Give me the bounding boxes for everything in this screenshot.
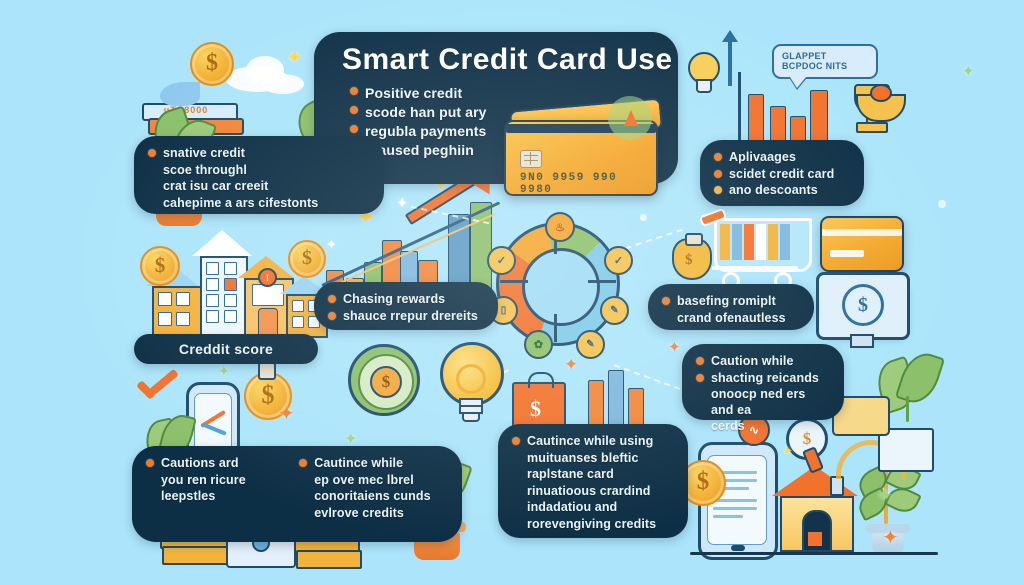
list-item: Caution while [696,354,828,370]
sparkle-icon: ✦ [278,404,295,424]
coin-icon: $ [190,42,234,86]
chart-bar [628,388,644,426]
bowl-icon [856,86,902,120]
panel-basefing-romiplt: basefing romiplt crand ofenautless [648,284,814,330]
speech-bubble-line-2: BCPDOC NITS [782,61,868,71]
list-item: shauce rrepur drereits [328,309,482,325]
list-item: indadatiou and [512,500,672,516]
list-item: ep ove mec lbrel [299,473,446,489]
lightbulb-icon [686,52,718,96]
roof-shape [192,230,252,256]
list-item: Cautince while using [512,434,672,450]
chart-axis [738,72,741,146]
panel-credit-score-through: snative credit scoe throughl crat isu ca… [134,136,384,214]
speech-bubble: GLAPPET BCPDOC NITS [772,44,878,79]
list-item: cahepime a ars cifestonts [148,196,368,212]
sparkle-icon: ✦ [962,64,975,79]
list-item: muituanses bleftic [512,451,672,467]
panel-advantages: Aplivaages scidet credit card ano descoa… [700,140,864,206]
coin-drop-shape [160,82,200,106]
bullet-list: Cautince while using muituanses bleftic … [512,434,672,532]
spending-bar-chart [744,82,836,144]
alert-badge-icon: ! [258,268,277,287]
decorative-dot [938,200,946,208]
card-number: 9N0 9959 990 9980 [520,172,646,196]
target-dollar-icon: $ [348,344,420,416]
list-item: Aplivaages [714,150,848,166]
bullet-list: snative credit scoe throughl crat isu ca… [148,146,368,211]
chart-bar [748,94,764,144]
list-item: snative credit [148,146,368,162]
coin-icon: $ [140,246,180,286]
sparkle-icon: ✦ [218,364,230,378]
sparkle-icon: ✦ [396,196,409,211]
flame-badge-icon: ♨ [545,212,575,242]
door-shape [258,308,278,336]
shopping-cart-icon [700,210,818,286]
list-item: leepstles [146,489,273,505]
list-item: cerds [696,419,828,435]
panel-cautince-while-using: Cautince while using muituanses bleftic … [498,424,688,538]
page-title: Smart Credit Card Use [342,44,662,76]
panel-chasing-rewards: Chasing rewards shauce rrepur drereits [314,282,498,330]
bullet-list: Chasing rewards shauce rrepur drereits [328,292,482,324]
list-item: crand ofenautless [662,311,798,327]
pencil-badge-icon: ✎ [600,296,629,325]
sparkle-icon: ✦ [876,486,893,506]
bullet-list: Cautince while ep ove mec lbrel conorita… [299,456,446,522]
decorative-dot [640,214,647,221]
infographic-canvas: $ uTC8000 [0,0,1024,585]
credit-card-icon [820,216,904,272]
list-item: shacting reicands [696,371,828,387]
leaf-badge-icon: ✿ [524,330,553,359]
bullet-list: Caution while shacting reicands onoocp n… [696,354,828,435]
list-item: evlrove credits [299,506,446,522]
sparkle-icon: ✦ [564,356,578,373]
card-chip-icon [520,150,542,168]
upward-arrow-icon [728,40,732,86]
pen-badge-icon: ✎ [576,330,605,359]
chart-bar [770,106,786,144]
list-item: crat isu car creeit [148,179,368,195]
list-item: rorevengiving credits [512,517,672,533]
chart-bar [608,370,624,426]
check-mark-icon [136,372,180,406]
list-item: Chasing rewards [328,292,482,308]
list-item: ano descoants [714,183,848,199]
coin-icon: $ [288,240,326,278]
chart-bar [810,90,828,144]
list-item: scidet credit card [714,167,848,183]
sparkle-icon: ✦ [326,238,337,251]
check-badge-icon: ✓ [487,246,516,275]
check-badge-icon: ✓ [604,246,633,275]
bullet-list: Aplivaages scidet credit card ano descoa… [714,150,848,199]
list-item: Cautions ard [146,456,273,472]
list-item: raplstane card [512,467,672,483]
list-item: basefing romiplt [662,294,798,310]
panel-caution-shacting: Caution while shacting reicands onoocp n… [682,344,844,420]
lightbulb-icon [440,342,498,424]
mini-bar-chart [586,368,658,426]
list-item: onoocp ned ers and ea [696,387,828,418]
list-item: Positive credit [350,84,662,102]
money-bag-icon: $ [672,238,712,280]
desktop-monitor-icon: $ [816,272,904,350]
credit-score-pill: Creddit score [134,334,318,364]
ground-line [690,552,938,555]
speech-bubble-line-1: GLAPPET [782,51,868,61]
list-item: rinuatioous crardind [512,484,672,500]
bullet-list: Cautions ard you ren ricure leepstles [146,456,273,522]
list-item: you ren ricure [146,473,273,489]
sparkle-icon: ✦ [668,340,681,355]
sparkle-icon: ✦ [882,528,899,548]
chart-bar [588,380,604,426]
coin-ribbon [258,362,276,380]
sparkle-icon: ✦ [286,48,303,68]
sparkle-icon: ✦ [782,444,793,457]
arrow-head-icon [722,30,738,42]
panel-cautions-ard: Cautions ard you ren ricure leepstles Ca… [132,446,462,542]
list-item: scoe throughl [148,163,368,179]
cloud-shape [262,74,304,94]
list-item: Cautince while [299,456,446,472]
bullet-list: basefing romiplt crand ofenautless [662,294,798,326]
list-item: conoritaiens cunds [299,489,446,505]
credit-card-hero: 9N0 9959 990 9980 [504,104,660,196]
